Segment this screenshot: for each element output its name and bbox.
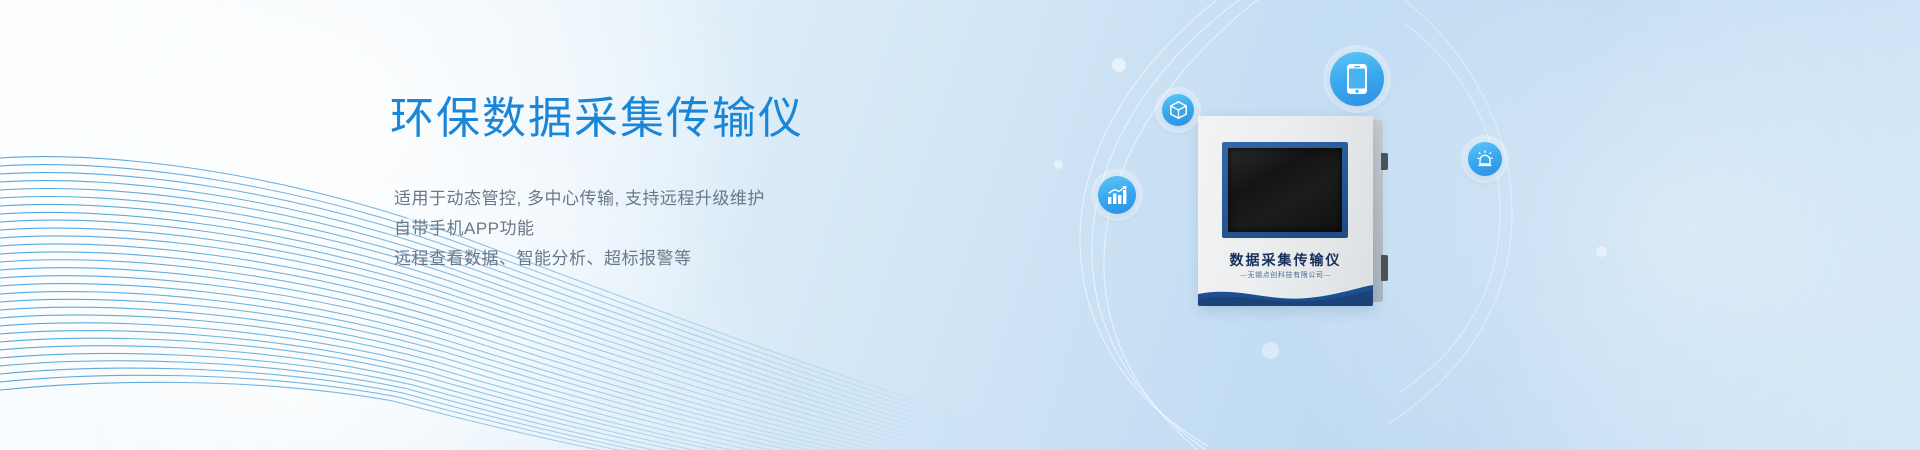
device-brand-label: 数据采集传输仪 bbox=[1198, 250, 1373, 270]
bar-chart-icon bbox=[1107, 185, 1128, 205]
alarm-siren-icon bbox=[1476, 150, 1494, 168]
chart-icon-bubble[interactable] bbox=[1098, 176, 1136, 214]
feature-item-2: 自带手机APP功能 bbox=[394, 214, 950, 244]
data-acquisition-device: 数据采集传输仪 —无锡点创科技有限公司— bbox=[1198, 116, 1373, 306]
feature-item-3: 远程查看数据、智能分析、超标报警等 bbox=[394, 244, 950, 274]
wave-lines-decoration bbox=[0, 0, 1920, 450]
decorative-dot bbox=[1112, 58, 1126, 72]
device-company-label: —无锡点创科技有限公司— bbox=[1198, 270, 1373, 280]
phone-icon bbox=[1346, 63, 1368, 95]
product-image-stage: 数据采集传输仪 —无锡点创科技有限公司— bbox=[1150, 20, 1610, 430]
device-connector-top bbox=[1381, 153, 1388, 170]
feature-item-1: 适用于动态管控, 多中心传输, 支持远程升级维护 bbox=[394, 184, 950, 214]
cube-icon-bubble[interactable] bbox=[1162, 94, 1194, 126]
decorative-dot bbox=[1054, 160, 1063, 169]
device-connector-bottom bbox=[1381, 255, 1388, 281]
device-footer-graphic bbox=[1198, 284, 1373, 306]
concentric-arcs-decoration bbox=[0, 0, 1920, 450]
product-hero-banner: 环保数据采集传输仪 适用于动态管控, 多中心传输, 支持远程升级维护 自带手机A… bbox=[0, 0, 1920, 450]
feature-list: 适用于动态管控, 多中心传输, 支持远程升级维护 自带手机APP功能 远程查看数… bbox=[394, 184, 950, 274]
phone-icon-bubble[interactable] bbox=[1330, 52, 1384, 106]
device-screen-bezel bbox=[1222, 142, 1348, 238]
hero-copy-block: 环保数据采集传输仪 适用于动态管控, 多中心传输, 支持远程升级维护 自带手机A… bbox=[390, 92, 950, 274]
cube-icon bbox=[1170, 101, 1187, 119]
page-title: 环保数据采集传输仪 bbox=[390, 92, 950, 146]
device-screen bbox=[1228, 148, 1342, 232]
alarm-icon-bubble[interactable] bbox=[1468, 142, 1502, 176]
